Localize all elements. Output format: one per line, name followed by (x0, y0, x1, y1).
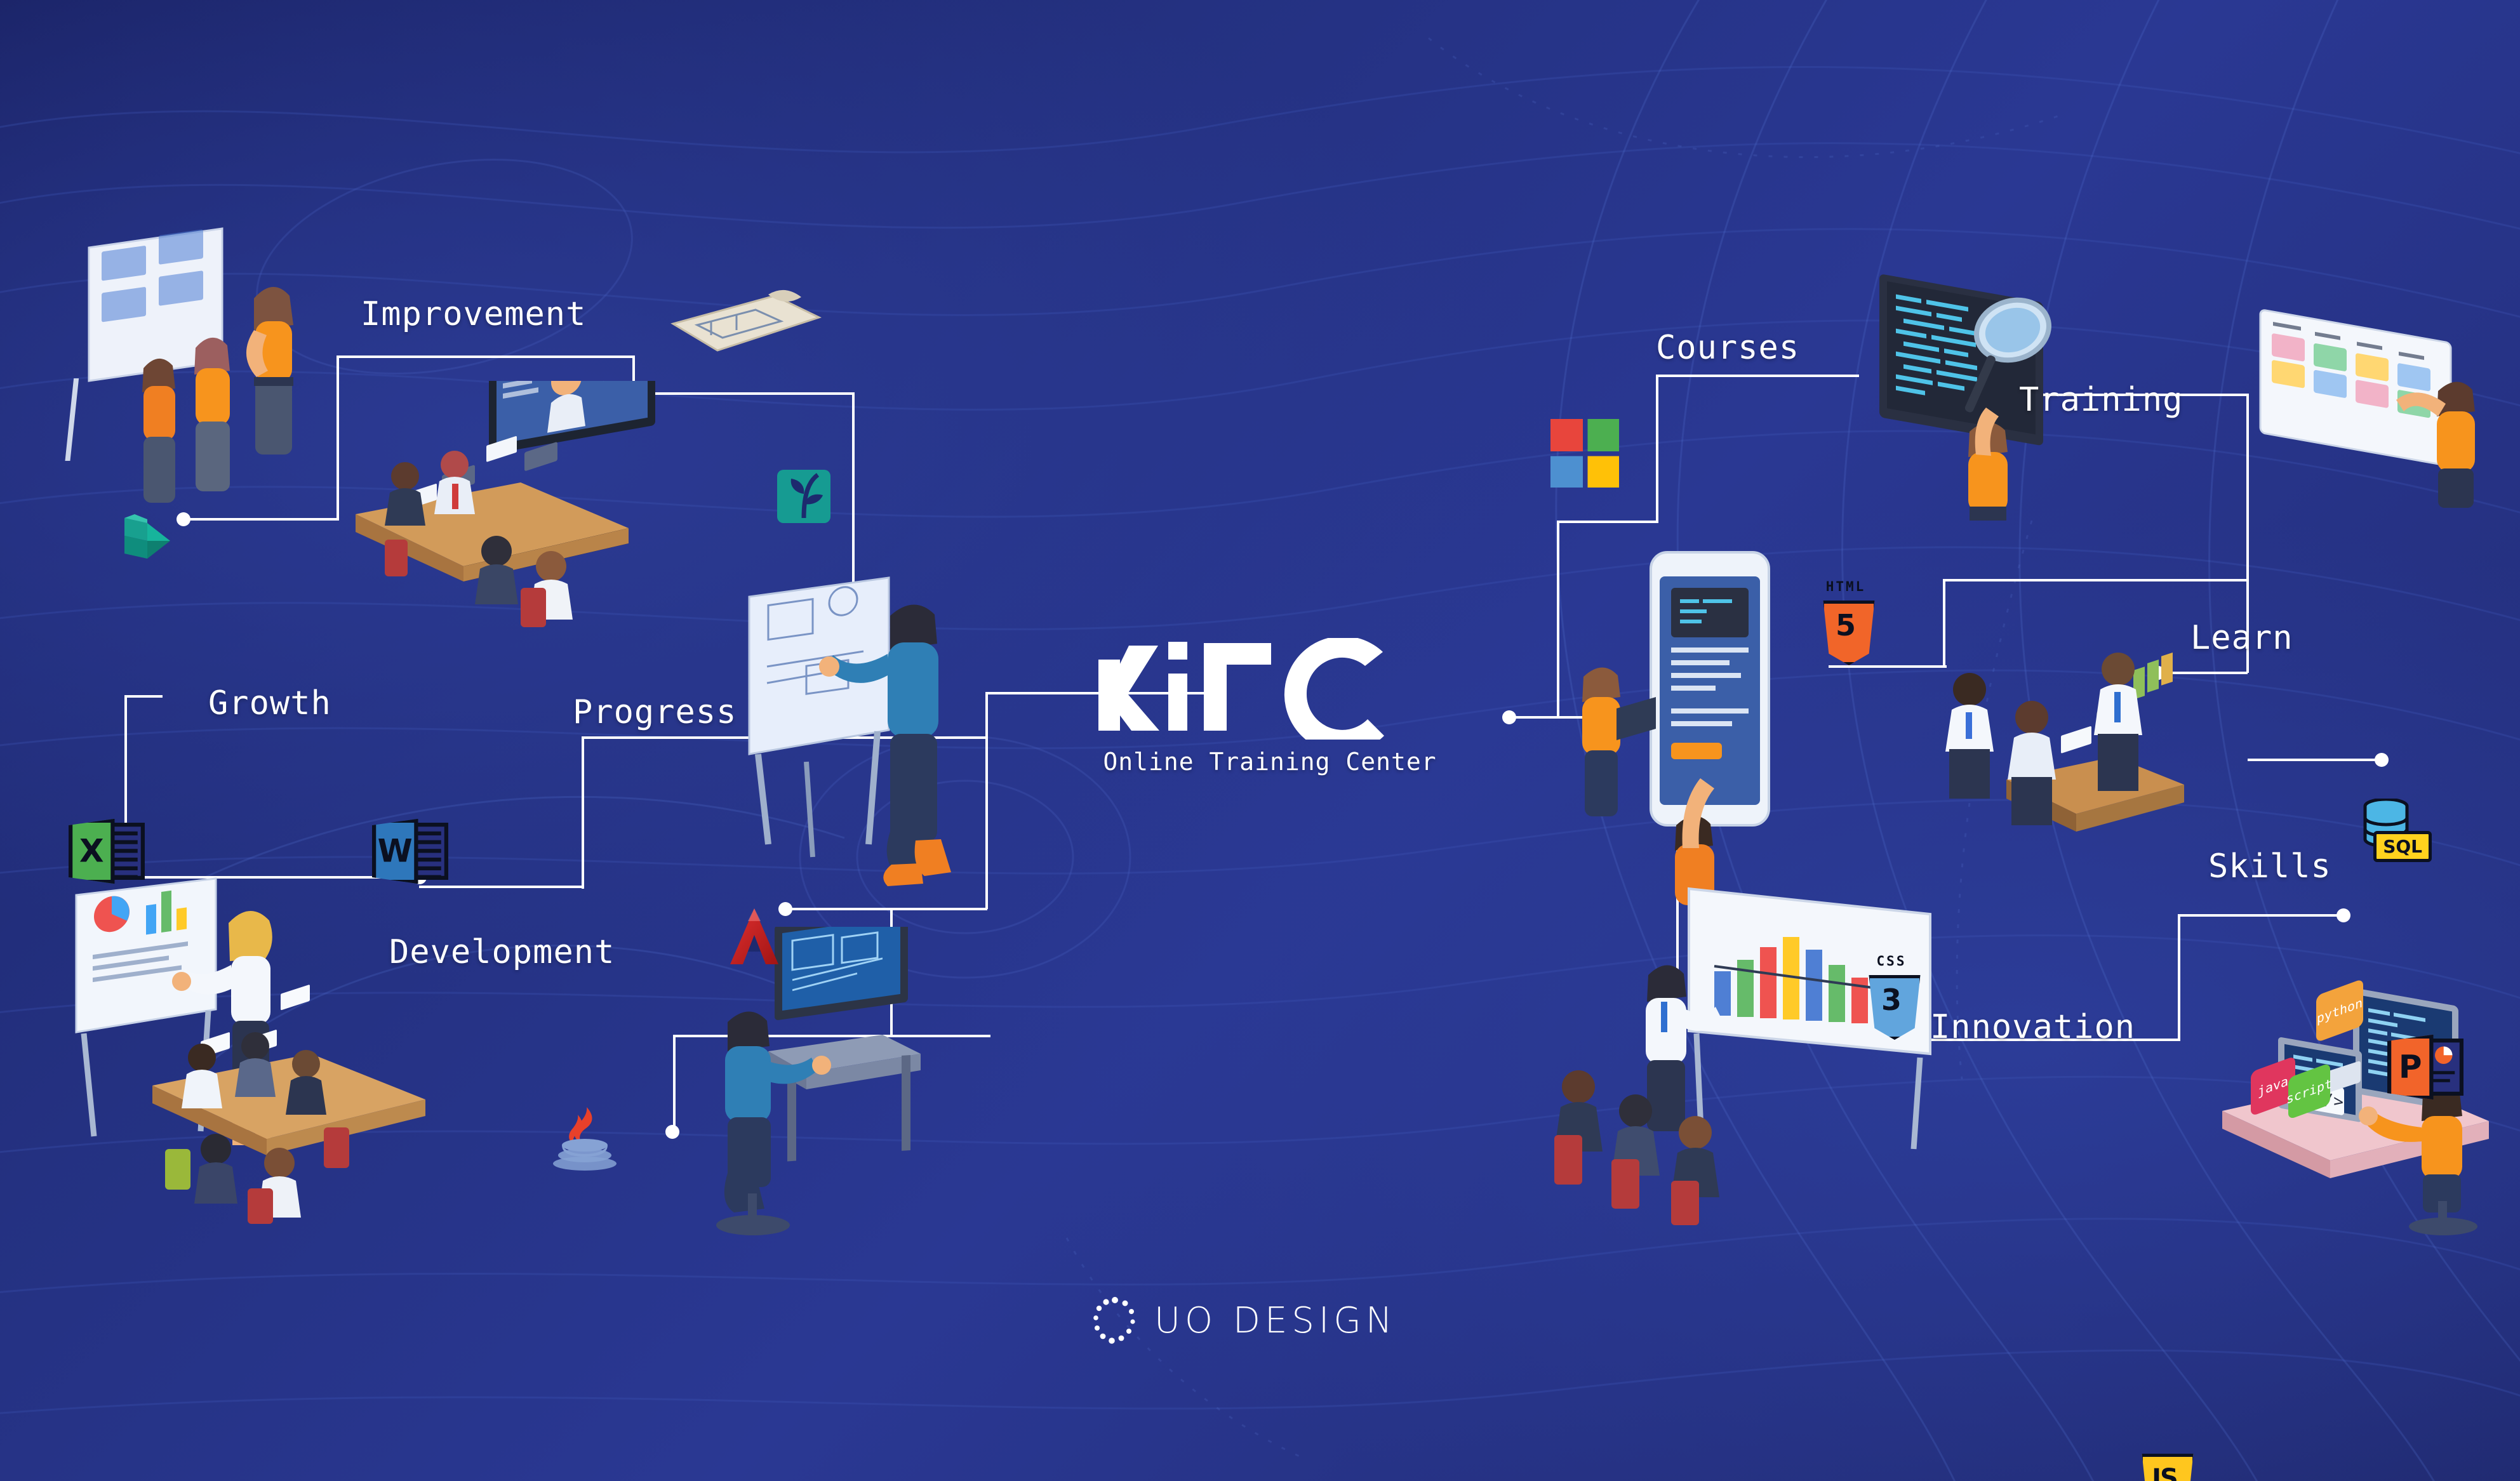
microsoft-square-blue (1550, 456, 1582, 488)
connector-dot-development (665, 1125, 679, 1139)
connector-h-improvement-top (337, 355, 635, 358)
dotted-circle-icon (1092, 1295, 1138, 1346)
label-skills[interactable]: Skills (2208, 847, 2331, 886)
center-logo: Online Training Center (1079, 641, 1460, 776)
css3-caption: CSS (1867, 953, 1916, 969)
css3-icon: CSS 3 (1867, 975, 1916, 1033)
lang-chip-java-label: java (2258, 1073, 2288, 1099)
autocad-icon (724, 905, 785, 971)
label-progress[interactable]: Progress (573, 693, 737, 731)
connector-v-progress (582, 736, 584, 889)
html5-caption: HTML (1821, 579, 1870, 594)
logo-subtitle: Online Training Center (1079, 748, 1460, 776)
connector-h-growth-top (124, 695, 163, 698)
mobile-learning-scene (1556, 527, 1822, 920)
java-icon (550, 1103, 620, 1173)
powerpoint-icon: P (2387, 1032, 2456, 1094)
blueprint-roll-prop (660, 279, 832, 394)
connector-h-powerpoint (2248, 759, 2381, 761)
connector-dot-powerpoint (2375, 753, 2389, 767)
label-learn[interactable]: Learn (2190, 619, 2293, 657)
label-growth[interactable]: Growth (208, 684, 331, 722)
connector-h-skills (2178, 914, 2344, 917)
connector-h-left-spine (889, 908, 987, 910)
microsoft-square-yellow (1587, 456, 1619, 488)
label-innovation[interactable]: Innovation (1930, 1008, 2135, 1046)
label-development[interactable]: Development (389, 933, 615, 971)
footer-brand: UO DESIGN (1092, 1295, 1397, 1346)
flipchart-meeting-scene (57, 876, 502, 1232)
connector-h-courses-low (1557, 521, 1658, 523)
connector-h-learn-top (1943, 579, 2248, 581)
office-desk-team-scene (1930, 622, 2197, 889)
connector-dot-hub-right (1502, 710, 1516, 724)
whiteboard-presentation-scene (63, 222, 356, 514)
word-icon: W (372, 816, 441, 879)
footer-brand-text: UO DESIGN (1154, 1300, 1397, 1341)
conference-room-scene (330, 381, 673, 654)
label-improvement[interactable]: Improvement (361, 295, 586, 333)
logo-wordmark-graphic (1079, 641, 1460, 736)
3dsmax-icon (113, 507, 183, 576)
word-letter: W (372, 819, 418, 884)
connector-h-development-up (785, 908, 893, 910)
sql-tag-label: SQL (2373, 831, 2432, 862)
microsoft-square-red (1550, 419, 1582, 451)
html5-number: 5 (1821, 601, 1870, 659)
microsoft-icon (1550, 419, 1619, 488)
powerpoint-letter: P (2387, 1035, 2434, 1100)
javascript-icon: JS (2140, 1454, 2189, 1481)
excel-icon: X (69, 816, 137, 879)
connector-h-improvement (184, 518, 338, 521)
lang-chip-python-label: python (2317, 995, 2363, 1026)
microsoft-square-green (1587, 419, 1619, 451)
seminar-audience-scene (1524, 876, 1981, 1232)
connector-v-development (673, 1035, 676, 1130)
sql-database-icon: SQL (2363, 799, 2429, 865)
kanban-board-scene (2248, 292, 2502, 521)
label-training[interactable]: Training (2019, 381, 2183, 419)
connector-h-courses-top (1656, 375, 1859, 377)
connector-dot-skills (2337, 908, 2350, 922)
lang-chip-script-label: script (2286, 1075, 2332, 1107)
javascript-letters: JS (2140, 1454, 2189, 1481)
infographic-canvas: </> python java script (0, 0, 2520, 1481)
connector-v-skills (2178, 914, 2180, 1041)
leaf-plant-icon (776, 468, 832, 524)
css3-number: 3 (1867, 975, 1916, 1033)
html5-icon: HTML 5 (1821, 601, 1870, 659)
connector-h-learn-left (1829, 665, 1947, 668)
blueprint-easel-scene (730, 571, 997, 901)
excel-letter: X (69, 819, 115, 884)
desk-designer-scene (692, 927, 965, 1263)
connector-v-courses-up (1656, 375, 1658, 523)
label-courses[interactable]: Courses (1656, 329, 1799, 367)
